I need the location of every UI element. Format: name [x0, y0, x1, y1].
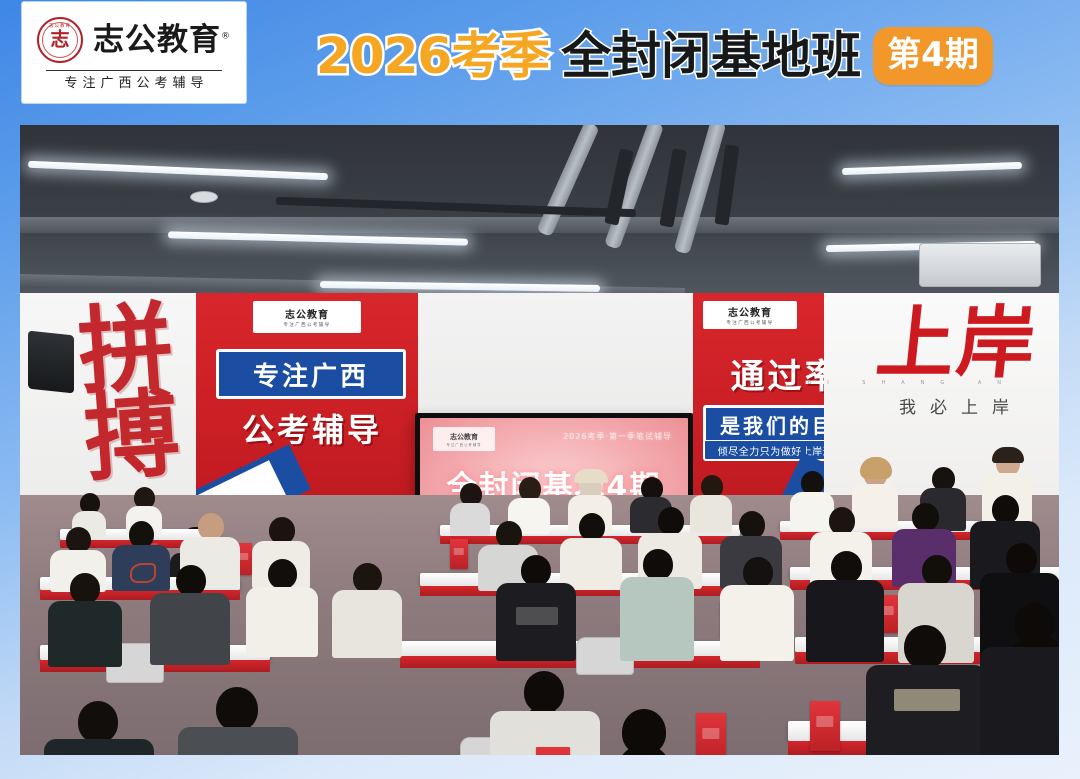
student: [980, 603, 1059, 755]
student-head: [198, 513, 224, 540]
screen-logo-sub: 专注广西公考辅导: [446, 442, 481, 447]
student-head: [521, 555, 551, 586]
ceiling-light: [842, 162, 1022, 175]
shirt-graphic: [894, 689, 960, 711]
headline-main: 全封闭基地班: [561, 31, 861, 81]
student-head: [922, 555, 952, 586]
student-body: [246, 587, 318, 657]
student-head: [353, 563, 382, 593]
screen-logo: 志公教育 专注广西公考辅导: [433, 427, 495, 451]
student-head: [269, 517, 295, 544]
left-red-banner: 志公教育 专注广西公考辅导 专注广西 公考辅导: [196, 293, 418, 508]
brand-logo-box: 志公教育 志 志公教育® 专注广西公考辅导: [22, 2, 246, 103]
student-body: [48, 601, 122, 667]
student-head: [496, 521, 522, 548]
right-calligraphy-subtitle: 我必上岸: [899, 393, 1023, 418]
student-head: [829, 507, 855, 535]
student-head: [78, 701, 118, 743]
left-calligraphy: 拼搏: [76, 301, 209, 499]
student-body: [150, 593, 230, 665]
smoke-detector-icon: [190, 191, 218, 203]
student-hair: [860, 457, 892, 479]
registered-mark: ®: [221, 31, 231, 41]
product-box: [536, 747, 570, 755]
student-hat: [574, 469, 608, 483]
banner-blue-plate: 专注广西: [216, 349, 406, 399]
student-head: [70, 573, 100, 604]
student: [580, 709, 710, 755]
flame-icon: [646, 751, 1059, 755]
banner-logo-sub: 专注广西公考辅导: [283, 322, 330, 328]
air-conditioner-unit: [919, 243, 1041, 287]
banner-logo-main: 志公教育: [285, 306, 329, 321]
student: [246, 559, 318, 655]
banner-logo: 志公教育 专注广西公考辅导: [703, 301, 797, 329]
student-head: [904, 625, 946, 669]
headline: 2026考季 全封闭基地班 第4期: [316, 24, 993, 88]
right-calligraphy: 上岸: [873, 305, 1041, 383]
student-body: [980, 647, 1059, 755]
student-head: [992, 495, 1019, 524]
brand-logo-row: 志公教育 志 志公教育®: [37, 17, 231, 63]
student: [620, 549, 694, 659]
banner-white-line: 公考辅导: [218, 405, 406, 451]
screen-logo-main: 志公教育: [450, 432, 478, 442]
student-body: [44, 739, 154, 755]
student-head: [216, 687, 258, 731]
seal-character: 志: [39, 31, 81, 50]
student-body: [332, 590, 402, 658]
student: [48, 573, 122, 665]
headline-badge: 第4期: [873, 27, 993, 85]
wall-speaker: [28, 331, 74, 394]
student-head: [831, 551, 862, 583]
student-head: [129, 521, 154, 548]
shirt-graphic: [516, 607, 558, 625]
student: [44, 701, 154, 755]
student-hair: [992, 447, 1024, 463]
product-box: [450, 539, 468, 569]
logo-divider: [46, 70, 222, 71]
seal-icon: 志公教育 志: [37, 17, 83, 63]
banner-logo: 志公教育 专注广西公考辅导: [253, 301, 361, 333]
student-head: [579, 513, 605, 541]
product-box: [696, 713, 726, 755]
student-body: [178, 727, 298, 755]
product-box: [810, 701, 840, 751]
ceiling-conduit: [276, 197, 636, 218]
banner-logo-sub: 专注广西公考辅导: [726, 320, 773, 326]
banner-logo-main: 志公教育: [728, 304, 772, 319]
ceiling-duct: [715, 144, 740, 225]
student: [720, 557, 794, 659]
screen-tagline: 2026考季·第一季笔试辅导: [563, 431, 672, 442]
student: [496, 555, 576, 659]
student: [866, 625, 986, 755]
student-head: [1006, 543, 1037, 575]
right-calligraphy-pinyin: WO BI SHANG AN: [749, 380, 1017, 386]
brand-subtitle: 专注广西公考辅导: [59, 77, 208, 90]
student: [332, 563, 402, 657]
brand-name-text: 志公教育: [93, 22, 221, 58]
student: [150, 565, 230, 663]
student-head: [743, 557, 773, 588]
ceiling-light: [28, 161, 328, 181]
student-head: [912, 503, 939, 531]
brand-name: 志公教育®: [93, 25, 231, 56]
student-body: [620, 577, 694, 661]
student-head: [739, 511, 765, 539]
classroom-photo: 拼搏 志公教育 专注广西公考辅导 专注广西 公考辅导 志公教育 专注广西公考辅导…: [20, 125, 1059, 755]
student: [178, 687, 298, 755]
headline-year: 2026考季: [316, 31, 549, 81]
poster-root: 志公教育 志 志公教育® 专注广西公考辅导 2026考季 全封闭基地班 第4期: [0, 0, 1080, 779]
student-head: [176, 565, 206, 596]
ceiling-light: [168, 231, 468, 245]
student-body: [720, 585, 794, 661]
